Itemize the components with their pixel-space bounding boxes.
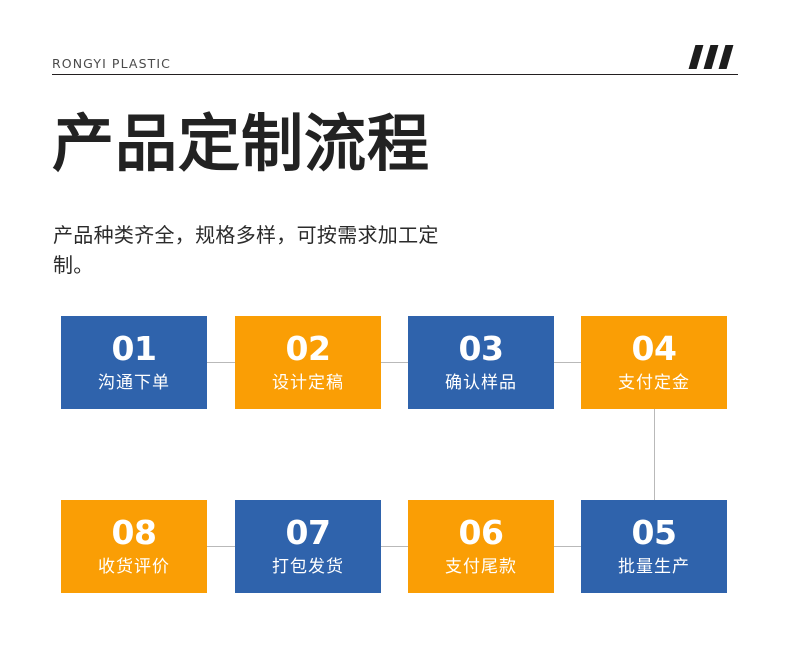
connector-03-04 <box>554 362 582 363</box>
step-number: 01 <box>112 332 157 366</box>
step-card-04[interactable]: 04 支付定金 <box>581 316 727 409</box>
connector-06-05 <box>554 546 582 547</box>
connector-04-05 <box>654 409 655 500</box>
step-number: 02 <box>286 332 331 366</box>
step-label: 收货评价 <box>98 556 170 578</box>
connector-07-06 <box>380 546 410 547</box>
step-label: 批量生产 <box>618 556 690 578</box>
step-label: 支付尾款 <box>445 556 517 578</box>
step-number: 08 <box>112 516 157 550</box>
step-number: 04 <box>632 332 677 366</box>
step-card-08[interactable]: 08 收货评价 <box>61 500 207 593</box>
connector-02-03 <box>380 362 410 363</box>
step-number: 03 <box>459 332 504 366</box>
step-number: 05 <box>632 516 677 550</box>
connector-08-07 <box>206 546 237 547</box>
step-card-03[interactable]: 03 确认样品 <box>408 316 554 409</box>
step-number: 07 <box>286 516 331 550</box>
step-label: 设计定稿 <box>272 372 344 394</box>
step-card-05[interactable]: 05 批量生产 <box>581 500 727 593</box>
step-label: 确认样品 <box>445 372 517 394</box>
step-label: 沟通下单 <box>98 372 170 394</box>
slide-canvas: RONGYI PLASTIC 产品定制流程 产品种类齐全，规格多样，可按需求加工… <box>0 0 790 648</box>
step-card-01[interactable]: 01 沟通下单 <box>61 316 207 409</box>
step-card-02[interactable]: 02 设计定稿 <box>235 316 381 409</box>
connector-01-02 <box>206 362 237 363</box>
step-card-07[interactable]: 07 打包发货 <box>235 500 381 593</box>
step-label: 打包发货 <box>272 556 344 578</box>
step-label: 支付定金 <box>618 372 690 394</box>
step-number: 06 <box>459 516 504 550</box>
process-flow-diagram: 01 沟通下单 02 设计定稿 03 确认样品 04 支付定金 08 收货评价 … <box>0 0 790 648</box>
step-card-06[interactable]: 06 支付尾款 <box>408 500 554 593</box>
